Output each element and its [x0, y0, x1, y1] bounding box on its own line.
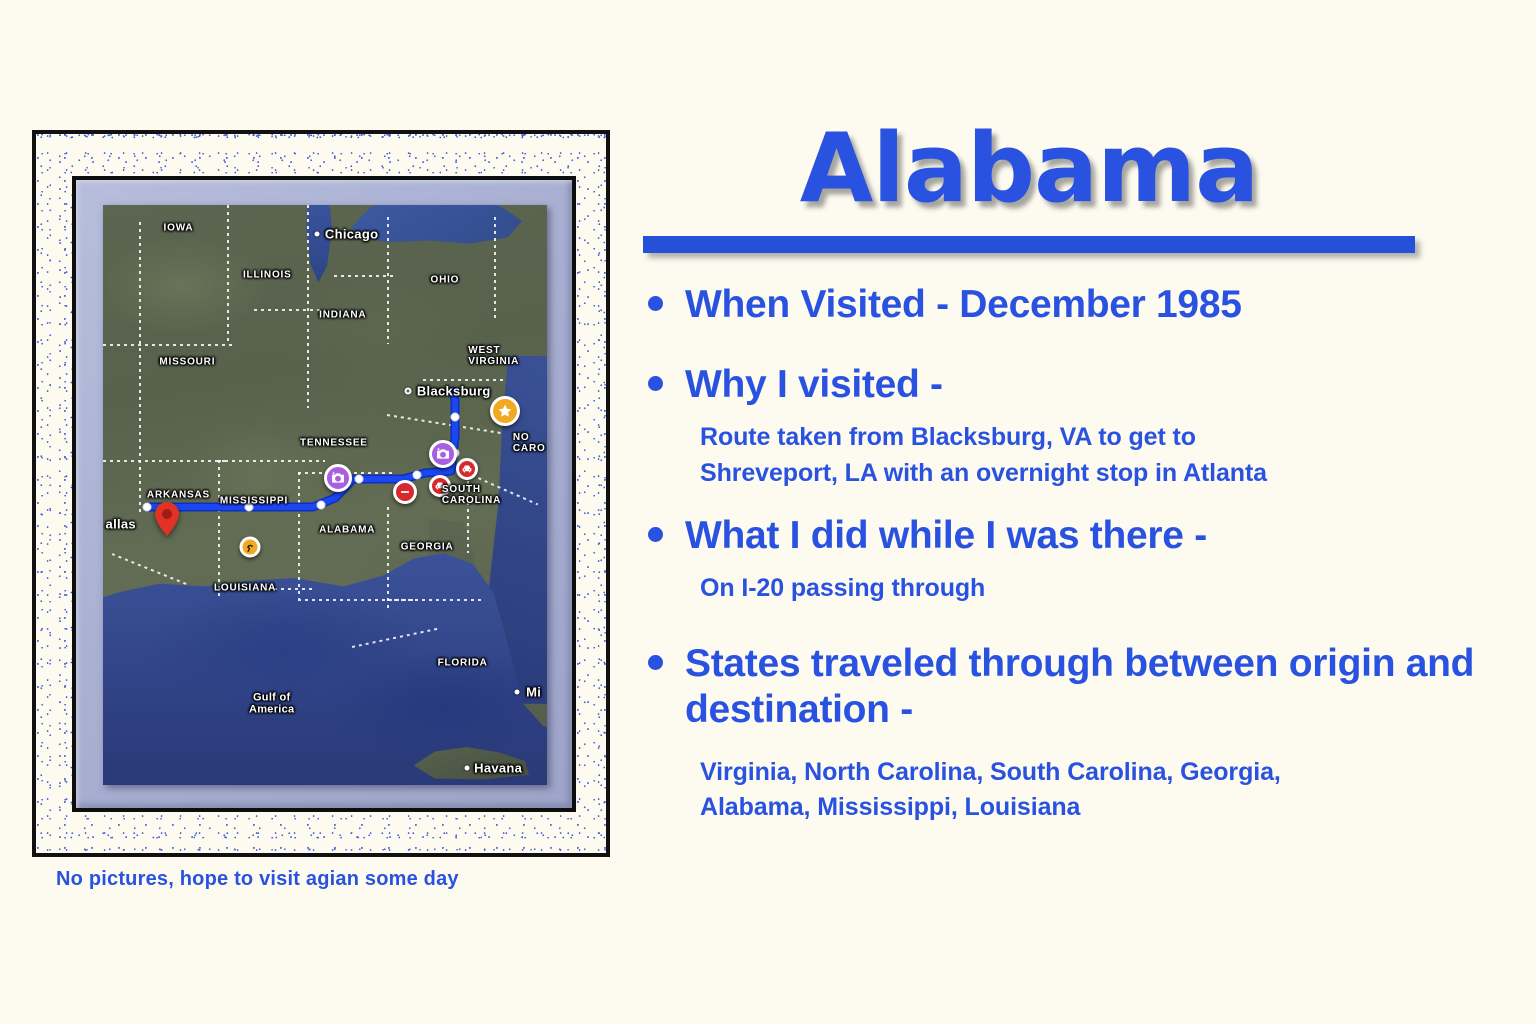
photo-caption: No pictures, hope to visit agian some da…	[56, 868, 459, 891]
frame-inner-border: IOWAILLINOISINDIANAOHIOMISSOURIWESTVIRGI…	[72, 176, 576, 812]
bullet-label: What I did while I was there -	[685, 513, 1207, 559]
bullet-dot-icon	[648, 376, 663, 391]
bullet-dot-icon	[648, 655, 663, 670]
city-dot-marker	[514, 690, 519, 695]
map-canvas: IOWAILLINOISINDIANAOHIOMISSOURIWESTVIRGI…	[103, 205, 547, 785]
pin-small-icon[interactable]	[239, 537, 260, 558]
bullet-label: When Visited - December 1985	[685, 282, 1242, 328]
bullet-dot-icon	[648, 296, 663, 311]
bullet-subtext: Route taken from Blacksburg, VA to get t…	[700, 420, 1516, 456]
title-underline-rule	[643, 236, 1415, 253]
list-item[interactable]: What I did while I was there -	[636, 513, 1516, 559]
list-item[interactable]: Why I visited -	[636, 362, 1516, 408]
bullet-subtext: Shreveport, LA with an overnight stop in…	[700, 456, 1516, 492]
bullet-list: When Visited - December 1985 Why I visit…	[636, 282, 1516, 826]
city-dot-marker	[464, 765, 469, 770]
list-item[interactable]: States traveled through between origin a…	[636, 641, 1516, 733]
route-map[interactable]: IOWAILLINOISINDIANAOHIOMISSOURIWESTVIRGI…	[103, 205, 547, 785]
photo-frame: IOWAILLINOISINDIANAOHIOMISSOURIWESTVIRGI…	[32, 130, 610, 857]
star-icon[interactable]	[490, 396, 520, 426]
route-polyline	[103, 205, 547, 785]
destination-pin-icon[interactable]	[155, 502, 179, 536]
bullet-label: States traveled through between origin a…	[685, 641, 1485, 733]
bullet-subtext: Alabama, Mississippi, Louisiana	[700, 790, 1516, 826]
page-title: Alabama	[643, 120, 1415, 220]
bullet-label: Why I visited -	[685, 362, 943, 408]
car-icon[interactable]	[429, 475, 451, 497]
no-entry-icon[interactable]	[393, 480, 417, 504]
car-icon[interactable]	[456, 458, 478, 480]
city-ring-marker	[404, 387, 411, 394]
bullet-subtext: On I-20 passing through	[700, 571, 1516, 607]
list-item[interactable]: When Visited - December 1985	[636, 282, 1516, 328]
city-dot-marker	[314, 232, 319, 237]
camera-icon[interactable]	[429, 440, 457, 468]
bullet-dot-icon	[648, 527, 663, 542]
camera-icon[interactable]	[324, 464, 352, 492]
slide-canvas: IOWAILLINOISINDIANAOHIOMISSOURIWESTVIRGI…	[0, 0, 1536, 1024]
bullet-subtext: Virginia, North Carolina, South Carolina…	[700, 755, 1516, 791]
